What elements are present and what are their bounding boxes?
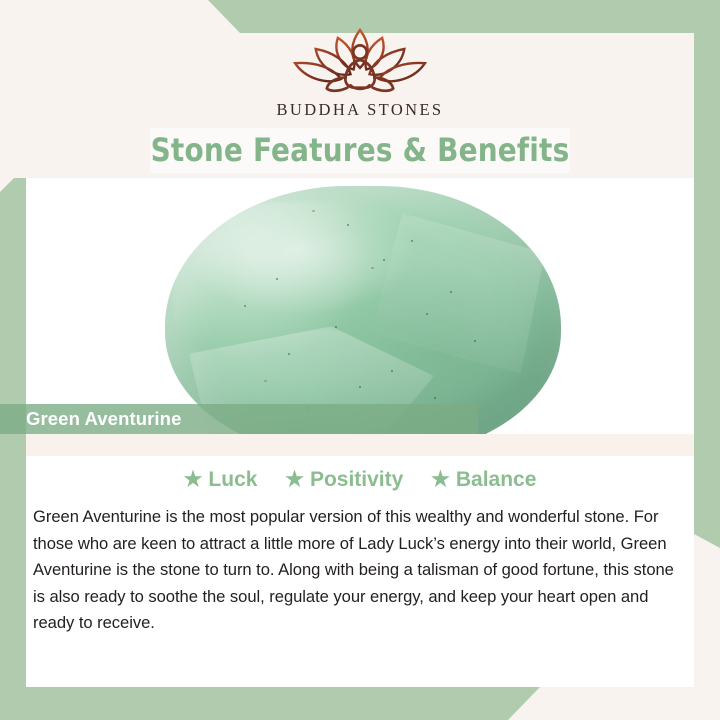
stone-photo-panel <box>26 178 694 434</box>
frame-bottom-band <box>0 687 720 720</box>
description-paragraph: Green Aventurine is the most popular ver… <box>33 504 684 637</box>
keyword-list: ★Luck ★Positivity ★Balance <box>26 468 694 492</box>
page-title: Stone Features & Benefits <box>11 126 709 174</box>
logo-lockup: BUDDHA STONES <box>0 22 720 120</box>
keyword-item-0: ★Luck <box>184 468 258 492</box>
section-divider <box>26 434 694 456</box>
green-aventurine-stone-image <box>165 186 561 434</box>
infographic-page: BUDDHA STONES Stone Features & Benefits <box>0 0 720 720</box>
brand-wordmark: BUDDHA STONES <box>0 100 720 120</box>
stone-caption-label: Green Aventurine <box>26 404 181 434</box>
lotus-meditation-icon <box>280 22 440 98</box>
description-panel: ★Luck ★Positivity ★Balance Green Aventur… <box>26 456 694 687</box>
keyword-item-1: ★Positivity <box>285 468 403 492</box>
star-icon: ★ <box>184 469 203 490</box>
keyword-item-2: ★Balance <box>431 468 536 492</box>
star-icon: ★ <box>285 469 304 490</box>
keyword-label: Balance <box>456 468 537 491</box>
star-icon: ★ <box>431 469 450 490</box>
frame-left-band <box>0 178 26 690</box>
keyword-label: Luck <box>208 468 257 491</box>
keyword-label: Positivity <box>310 468 403 491</box>
